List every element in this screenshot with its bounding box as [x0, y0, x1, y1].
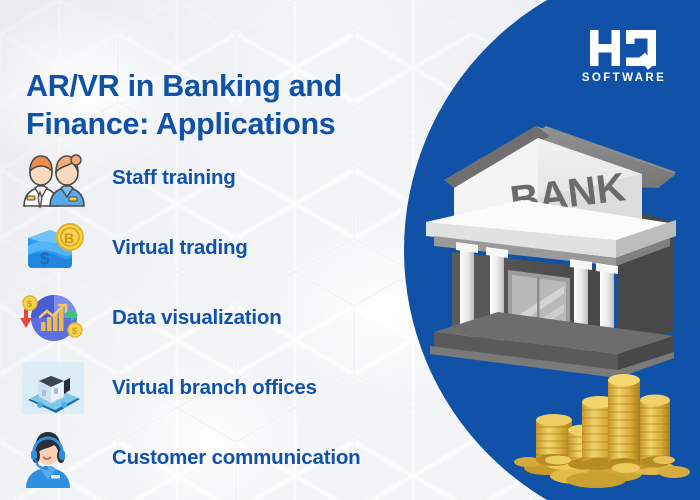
list-item-virtual-trading: $ B Virtual trading [18, 213, 448, 283]
hq-monogram-icon [576, 26, 672, 70]
bank-building-3d-icon: BANK [404, 118, 700, 378]
list-item-staff-training: Staff training [18, 143, 448, 213]
list-item-label: Data visualization [112, 306, 282, 330]
list-item-virtual-branch-offices: Virtual branch offices [18, 353, 448, 423]
two-staff-people-icon [18, 146, 90, 210]
hq-logo-mark [576, 26, 672, 70]
page-title-line-1: AR/VR in Banking and [26, 68, 436, 105]
list-item-label: Staff training [112, 166, 236, 190]
feature-list: Staff training $ B Virtual trading [18, 143, 448, 493]
page-title: AR/VR in Banking and Finance: Applicatio… [26, 68, 436, 142]
list-item-data-visualization: $ $ Data visualization [18, 283, 448, 353]
logo-wordmark: SOFTWARE [576, 72, 672, 84]
gold-coin-stacks-icon [506, 368, 700, 500]
list-item-customer-communication: Customer communication [18, 423, 448, 493]
tablet-ar-building-icon [18, 356, 90, 420]
wallet-bitcoin-icon: $ B [18, 216, 90, 280]
support-agent-headset-icon [18, 426, 90, 490]
list-item-label: Virtual branch offices [112, 376, 317, 400]
svg-text:$: $ [72, 326, 77, 336]
list-item-label: Virtual trading [112, 236, 248, 260]
hq-software-logo: SOFTWARE [576, 26, 672, 84]
poster-canvas: SOFTWARE AR/VR in Banking and Finance: A… [0, 0, 700, 500]
list-item-label: Customer communication [112, 446, 360, 470]
svg-text:B: B [64, 230, 74, 246]
pie-chart-growth-icon: $ $ [18, 286, 90, 350]
svg-text:$: $ [40, 249, 50, 268]
page-title-line-2: Finance: Applications [26, 106, 436, 143]
svg-text:$: $ [27, 299, 32, 309]
